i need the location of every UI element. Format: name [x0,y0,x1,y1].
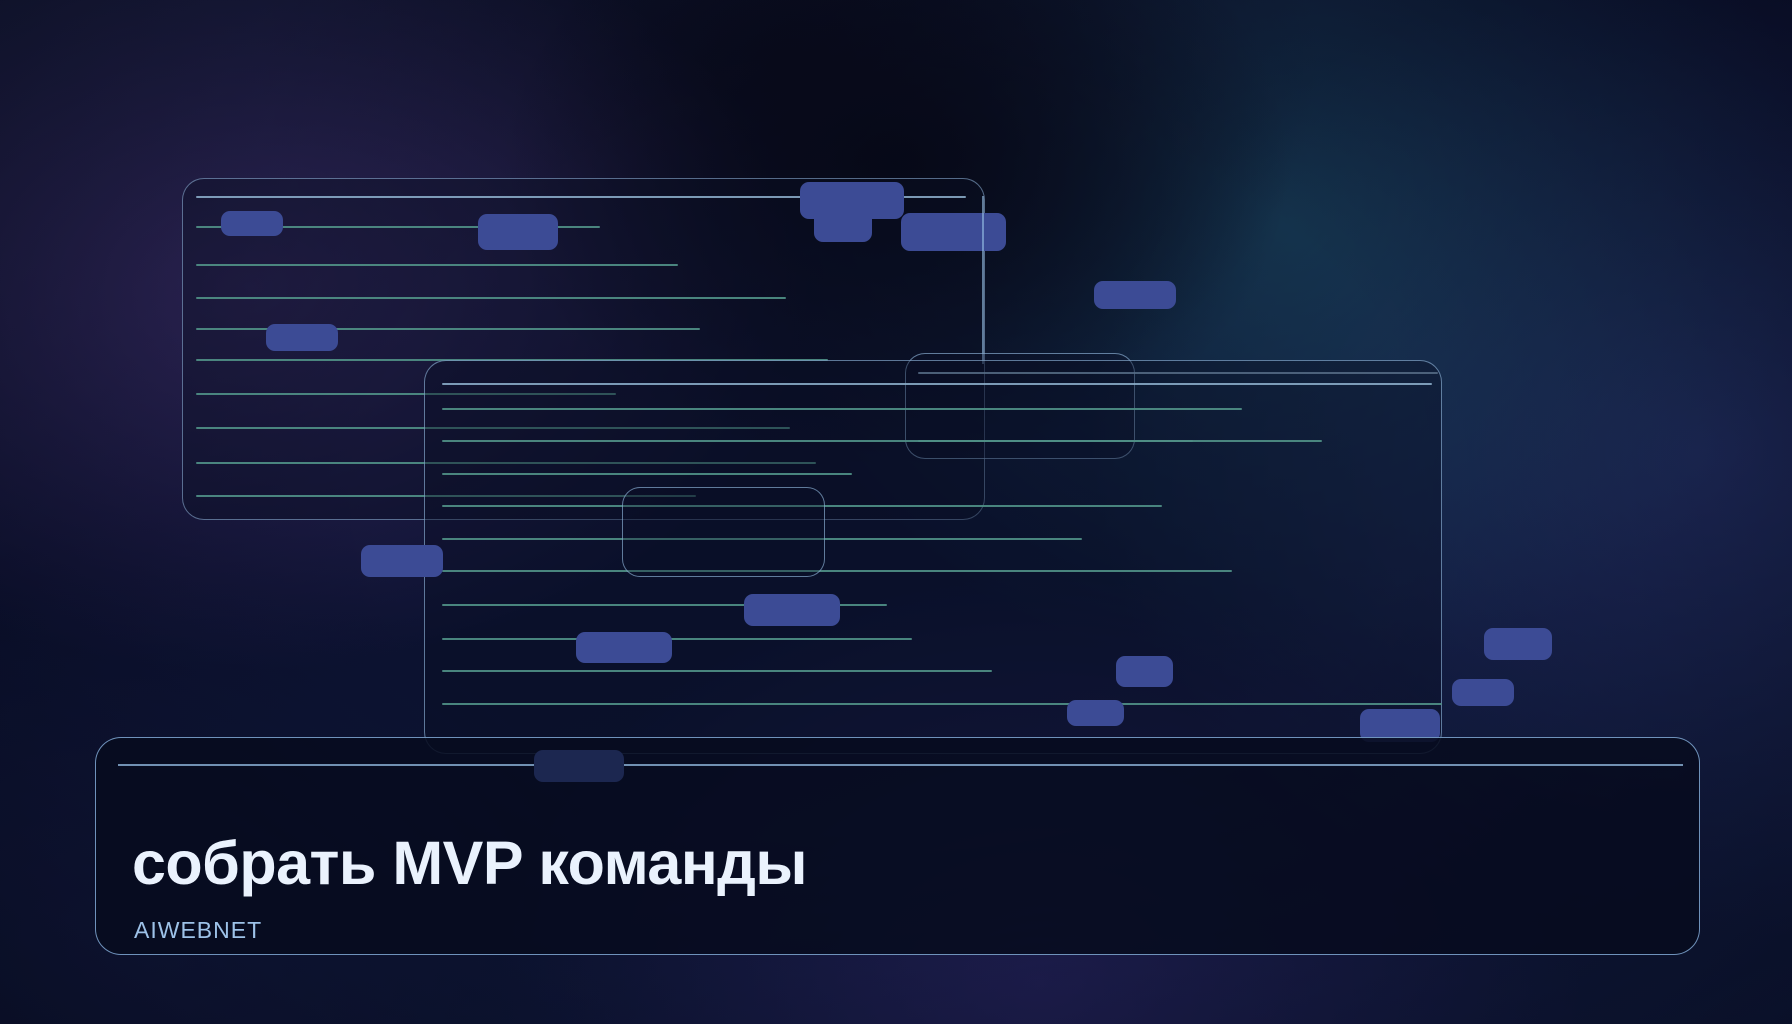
highlight-chip [1484,628,1552,660]
page-title: собрать MVP команды [132,831,807,895]
connector-line [982,196,984,364]
highlight-chip [221,211,283,236]
highlight-chip [361,545,443,577]
card-middle-rule [442,383,1432,385]
highlight-chip [744,594,840,626]
card-middle-rule [442,703,1442,705]
highlight-chip [534,750,624,782]
card-middle-rule [442,473,852,475]
highlight-chip [1094,281,1176,309]
highlight-chip [1452,679,1514,706]
highlight-chip [1116,656,1173,687]
card-foreground-rule [118,764,1683,766]
card-inner [622,487,825,577]
highlight-chip [901,213,1006,251]
card-middle-rule [442,570,1232,572]
highlight-chip [576,632,672,663]
card-back-rule [196,264,678,266]
highlight-chip [478,214,558,250]
card-middle [424,360,1442,754]
card-middle-rule [442,670,992,672]
card-inset-rule [918,440,1193,442]
card-back-rule [196,297,786,299]
highlight-chip [1067,700,1124,726]
card-middle-rule [442,638,912,640]
highlight-chip [814,206,872,242]
hero-banner: собрать MVP команды AIWEBNET [0,0,1792,1024]
card-middle-rule [442,408,1242,410]
highlight-chip [266,324,338,351]
brand-label: AIWEBNET [134,917,262,944]
